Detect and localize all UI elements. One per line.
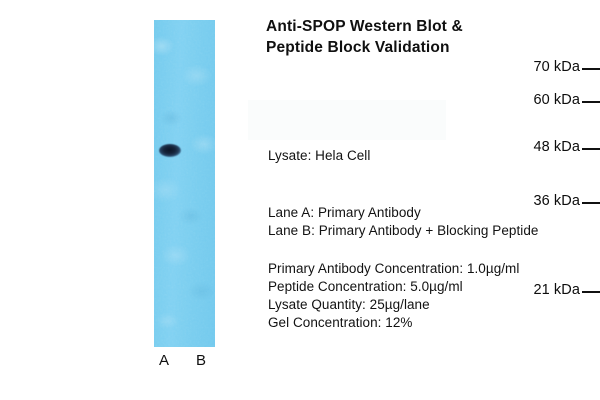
ladder-marker-21kda: 21 kDa [452,282,600,298]
figure-title-line-2: Peptide Block Validation [266,37,586,58]
background-panel [248,100,446,140]
lane-label-a: A [156,352,172,369]
ladder-marker-label: 70 kDa [533,59,580,75]
ladder-marker-label: 21 kDa [533,282,580,298]
protein-band-lane-a [159,144,181,157]
ladder-marker-70kda: 70 kDa [452,59,600,75]
ladder-marker-label: 36 kDa [533,193,580,209]
ladder-marker-label: 60 kDa [533,92,580,108]
detail-primary-antibody-concentration: Primary Antibody Concentration: 1.0µg/ml [268,261,519,276]
figure-title: Anti-SPOP Western Blot & Peptide Block V… [266,16,586,58]
membrane-texture [154,20,215,347]
figure-title-line-1: Anti-SPOP Western Blot & [266,16,586,37]
ladder-tick-icon [582,202,600,204]
western-blot-figure: 70 kDa 60 kDa 48 kDa 36 kDa 21 kDa A B A… [0,0,600,400]
detail-gel-concentration: Gel Concentration: 12% [268,315,412,330]
ladder-marker-60kda: 60 kDa [452,92,600,108]
detail-peptide-concentration: Peptide Concentration: 5.0µg/ml [268,279,463,294]
ladder-tick-icon [582,148,600,150]
ladder-marker-label: 48 kDa [533,139,580,155]
ladder-tick-icon [582,68,600,70]
detail-lysate: Lysate: Hela Cell [268,148,370,163]
ladder-tick-icon [582,291,600,293]
lane-label-b: B [193,352,209,369]
detail-lane-a: Lane A: Primary Antibody [268,205,421,220]
ladder-marker-36kda: 36 kDa [452,193,600,209]
blot-membrane [154,20,215,347]
ladder-marker-48kda: 48 kDa [452,139,600,155]
detail-lysate-quantity: Lysate Quantity: 25µg/lane [268,297,430,312]
detail-lane-b: Lane B: Primary Antibody + Blocking Pept… [268,223,538,238]
ladder-tick-icon [582,101,600,103]
